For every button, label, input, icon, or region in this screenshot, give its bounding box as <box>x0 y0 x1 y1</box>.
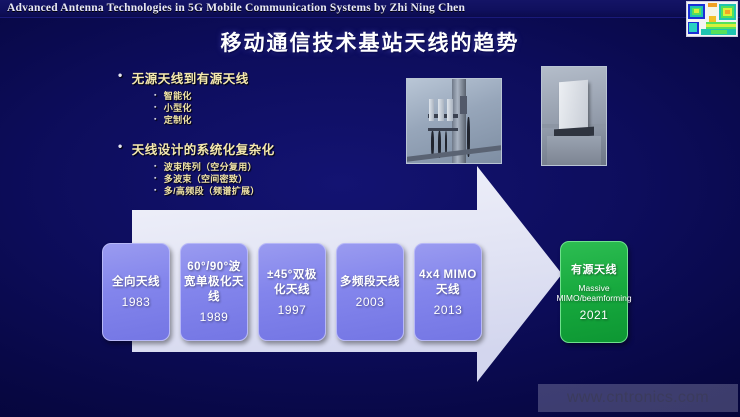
photo-panel-face <box>559 79 588 131</box>
timeline-box-1[interactable]: 全向天线 1983 <box>102 243 170 341</box>
sub-bullet-item: ▪ 小型化 <box>154 102 408 114</box>
watermark: www.cntronics.com <box>538 384 738 412</box>
photo-antenna-element <box>438 99 444 121</box>
timeline-box-label: ±45°双极化天线 <box>262 268 322 298</box>
bullet-spacer <box>118 126 408 139</box>
watermark-text: www.cntronics.com <box>567 389 709 407</box>
timeline-box-sublabel: Massive MIMO/beamforming <box>556 283 631 304</box>
timeline-box-year: 2021 <box>580 308 609 322</box>
timeline-box-4[interactable]: 多频段天线 2003 <box>336 243 404 341</box>
timeline-box-label: 多频段天线 <box>340 275 400 290</box>
flat-panel-antenna-photo <box>541 66 607 166</box>
timeline-box-year: 1997 <box>278 303 307 317</box>
timeline-box-6[interactable]: 有源天线 Massive MIMO/beamforming 2021 <box>560 241 628 343</box>
sub-bullet-dot-icon: ▪ <box>154 102 157 114</box>
bullet-item-2: • 天线设计的系统化复杂化 <box>118 139 408 158</box>
page-title: 移动通信技术基站天线的趋势 <box>0 27 740 57</box>
timeline-box-3[interactable]: ±45°双极化天线 1997 <box>258 243 326 341</box>
sub-bullet-item: ▪ 定制化 <box>154 114 408 126</box>
timeline-box-label: 60°/90°波宽单极化天线 <box>184 260 244 305</box>
timeline-box-year: 1989 <box>200 310 229 324</box>
sub-bullet-item: ▪ 智能化 <box>154 90 408 102</box>
photo-box-unit <box>460 96 468 114</box>
timeline-box-year: 2003 <box>356 295 385 309</box>
bullet-dot-icon: • <box>118 68 123 83</box>
sub-bullet-dot-icon: ▪ <box>154 114 157 126</box>
timeline-box-label: 全向天线 <box>112 275 160 290</box>
bullet-item-1: • 无源天线到有源天线 <box>118 68 408 87</box>
timeline-box-5[interactable]: 4x4 MIMO天线 2013 <box>414 243 482 341</box>
photo-antenna-element <box>429 99 435 121</box>
bullet-dot-icon: • <box>118 139 123 154</box>
timeline-box-year: 2013 <box>434 303 463 317</box>
photo-wall <box>547 136 601 165</box>
cell-tower-antenna-photo <box>406 78 502 164</box>
bullet-label: 天线设计的系统化复杂化 <box>132 139 275 158</box>
timeline-box-label: 有源天线 <box>571 263 617 278</box>
timeline-box-label: 4x4 MIMO天线 <box>418 268 478 298</box>
sub-bullet-dot-icon: ▪ <box>154 90 157 102</box>
header-title: Advanced Antenna Technologies in 5G Mobi… <box>7 2 465 14</box>
header-bar: Advanced Antenna Technologies in 5G Mobi… <box>0 0 740 18</box>
photo-antenna-element <box>447 99 453 121</box>
sub-bullet-label: 智能化 <box>164 90 192 102</box>
timeline-box-year: 1983 <box>122 295 151 309</box>
bullet-label: 无源天线到有源天线 <box>132 68 249 87</box>
sub-bullet-group-1: ▪ 智能化 ▪ 小型化 ▪ 定制化 <box>154 90 408 126</box>
slide-canvas: Advanced Antenna Technologies in 5G Mobi… <box>0 0 740 417</box>
timeline-box-2[interactable]: 60°/90°波宽单极化天线 1989 <box>180 243 248 341</box>
sub-bullet-label: 定制化 <box>164 114 192 126</box>
sub-bullet-label: 小型化 <box>164 102 192 114</box>
